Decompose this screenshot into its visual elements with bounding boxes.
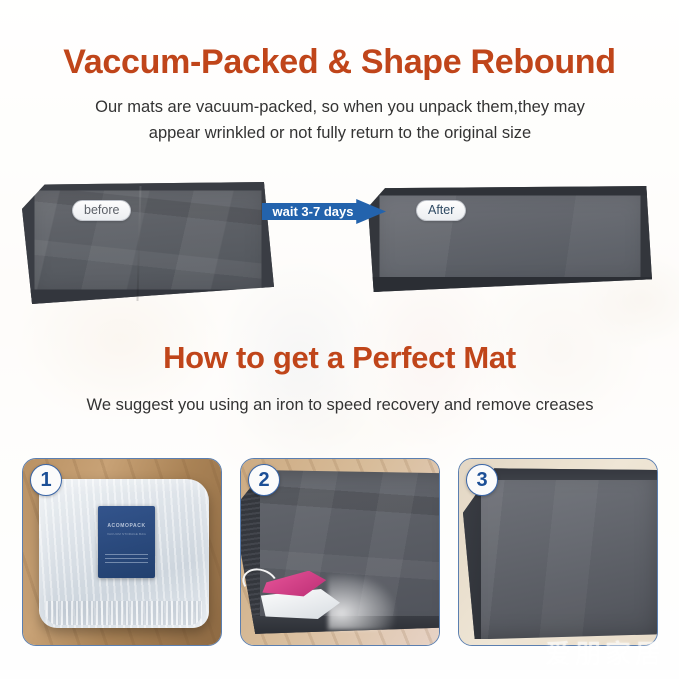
- section-one-subtitle: Our mats are vacuum-packed, so when you …: [40, 95, 640, 146]
- wait-arrow-banner: wait 3-7 days: [262, 199, 386, 224]
- step-badge-1: 1: [30, 464, 62, 496]
- section-two-subtitle: We suggest you using an iron to speed re…: [20, 396, 660, 415]
- step-badge-3: 3: [466, 464, 498, 496]
- step1-label-text-lines: [105, 551, 148, 567]
- step-panel-1: ACOMOPACK VACUUM STORAGE BAG 1: [22, 458, 222, 646]
- step-badge-2: 2: [248, 464, 280, 496]
- steam-iron-icon: [261, 571, 340, 619]
- step1-product-label: ACOMOPACK VACUUM STORAGE BAG: [98, 506, 154, 577]
- wait-arrow-label: wait 3-7 days: [267, 202, 359, 221]
- section-one-subtitle-line1: Our mats are vacuum-packed, so when you …: [40, 95, 640, 121]
- steps-gallery: ACOMOPACK VACUUM STORAGE BAG 1 2 3: [22, 458, 658, 646]
- mat-before-image: [22, 182, 274, 304]
- step1-brand-tagline: VACUUM STORAGE BAG: [98, 532, 154, 536]
- after-label-pill: After: [416, 200, 466, 221]
- before-label-pill: before: [72, 200, 131, 221]
- section-one-subtitle-line2: appear wrinkled or not fully return to t…: [40, 121, 640, 147]
- mat-after-border: [368, 186, 652, 292]
- mat-before-border: [22, 182, 274, 304]
- section-one-title: Vaccum-Packed & Shape Rebound: [0, 44, 679, 81]
- step-panel-2: 2: [240, 458, 440, 646]
- step-panel-3: 3: [458, 458, 658, 646]
- step1-vacuum-bag: ACOMOPACK VACUUM STORAGE BAG: [39, 479, 209, 628]
- step3-smooth-mat: [463, 468, 658, 639]
- mat-after-image: [368, 186, 652, 292]
- step1-brand-name: ACOMOPACK: [98, 523, 154, 529]
- section-two-title: How to get a Perfect Mat: [0, 340, 679, 376]
